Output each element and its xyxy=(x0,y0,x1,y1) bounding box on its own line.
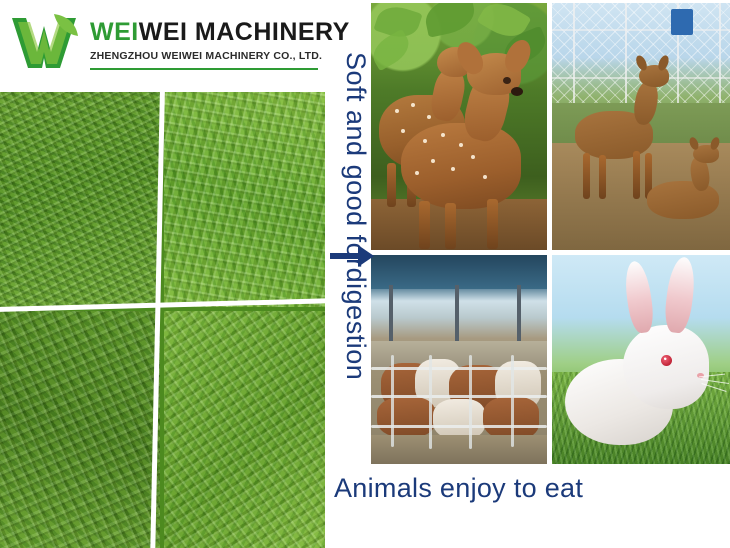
barn-post xyxy=(517,285,521,341)
pen-sign xyxy=(671,9,693,35)
deer-spot xyxy=(459,143,463,147)
metal-rail-post xyxy=(429,355,432,449)
chopped-green-grass-collage xyxy=(0,92,325,548)
brand-text-block: WEIWEI MACHINERY ZHENGZHOU WEIWEI MACHIN… xyxy=(90,20,320,62)
deer-spot xyxy=(441,133,445,137)
cow-body xyxy=(433,399,485,439)
deer-spot xyxy=(395,109,399,113)
deer-leg xyxy=(599,155,606,199)
barn-roof xyxy=(371,255,547,289)
caption-bottom: Animals enjoy to eat xyxy=(334,473,583,504)
collage-divider-vertical xyxy=(547,3,552,464)
grass-texture xyxy=(0,92,160,307)
deer-spot xyxy=(483,175,487,179)
deer-leg xyxy=(583,153,590,199)
deer-muzzle xyxy=(511,87,523,96)
deer-spot xyxy=(423,139,427,143)
grass-texture xyxy=(164,311,325,548)
rabbit-eye xyxy=(661,355,672,366)
deer-spot xyxy=(427,115,431,119)
deer-leg xyxy=(633,151,640,199)
cow-body xyxy=(377,397,435,437)
animal-photo-collage xyxy=(371,3,730,464)
right-arrow-icon xyxy=(330,243,374,269)
brand-underline xyxy=(90,68,318,70)
photo-white-rabbit xyxy=(551,255,730,464)
grass-tile-top-right xyxy=(164,92,325,307)
deer-body-front xyxy=(401,123,521,209)
metal-rail-post xyxy=(511,355,514,447)
rabbit-head xyxy=(623,325,709,409)
deer-spot xyxy=(411,103,415,107)
fence-rail xyxy=(551,29,730,31)
photo-cattle-in-barn xyxy=(371,255,547,464)
grass-texture xyxy=(0,311,160,548)
brand-name: WEIWEI MACHINERY xyxy=(90,20,320,45)
metal-rail xyxy=(371,395,547,398)
brand-name-suffix: MACHINERY xyxy=(187,18,349,46)
deer-spot xyxy=(401,129,405,133)
brand-company-line: ZHENGZHOU WEIWEI MACHINERY CO., LTD. xyxy=(90,50,320,62)
grass-tile-bottom-left xyxy=(0,311,160,548)
barn-post xyxy=(389,285,393,345)
poster-canvas: WEIWEI MACHINERY ZHENGZHOU WEIWEI MACHIN… xyxy=(0,0,730,548)
deer-spot xyxy=(451,167,455,171)
weiwei-w-leaf-logo-icon xyxy=(10,12,82,72)
grass-tile-bottom-right xyxy=(164,311,325,548)
deer-leg xyxy=(419,201,430,249)
brand-logo: WEIWEI MACHINERY ZHENGZHOU WEIWEI MACHIN… xyxy=(6,8,326,80)
metal-rail xyxy=(371,367,547,370)
barn-floor xyxy=(371,435,547,464)
deer-leg xyxy=(445,203,456,249)
deer-spot xyxy=(431,159,435,163)
metal-rail-post xyxy=(391,355,394,447)
brand-name-second: WEI xyxy=(139,18,188,46)
deer-leg xyxy=(487,199,498,249)
photo-deer-in-pen xyxy=(551,3,730,251)
grass-tile-top-left xyxy=(0,92,160,307)
deer-eye xyxy=(503,77,511,84)
deer-body-lying xyxy=(647,181,719,219)
photo-deer-in-forest xyxy=(371,3,547,251)
metal-rail-post xyxy=(469,355,472,449)
collage-divider-horizontal xyxy=(371,250,730,255)
deer-leg xyxy=(387,163,396,207)
deer-spot xyxy=(415,171,419,175)
barn-post xyxy=(455,285,459,343)
metal-rail xyxy=(371,425,547,428)
grass-texture xyxy=(164,92,325,307)
deer-spot xyxy=(471,155,475,159)
brand-name-first: WEI xyxy=(90,18,139,46)
